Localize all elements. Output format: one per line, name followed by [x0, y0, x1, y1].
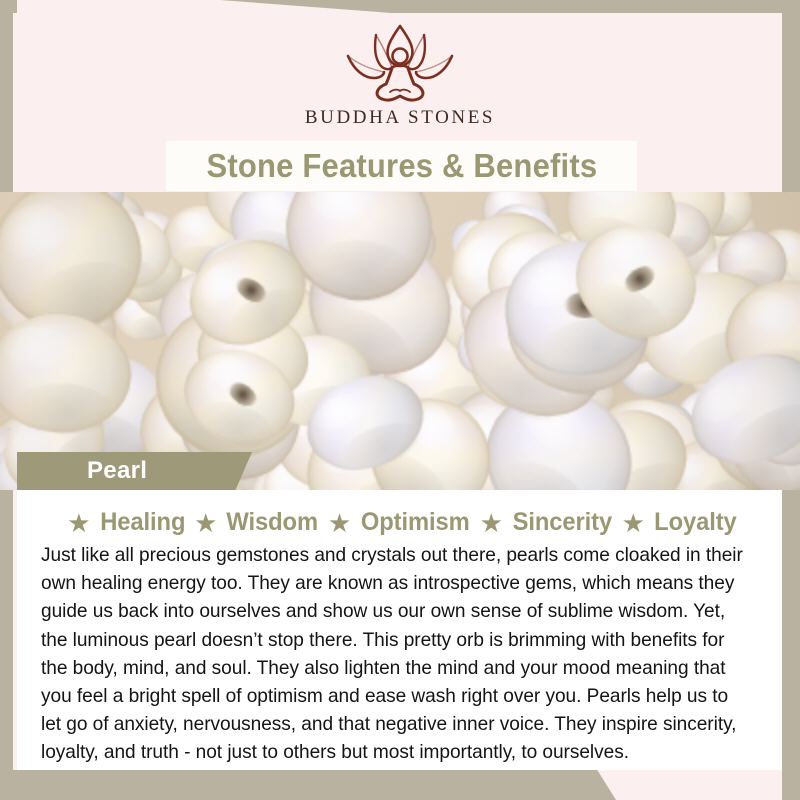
frame-accent-bottom [0, 768, 800, 800]
lotus-meditation-icon [312, 18, 488, 106]
benefits-list: ★Healing★Wisdom★Optimism★Sincerity★Loyal… [41, 508, 758, 537]
benefit-item: ★Wisdom [187, 508, 321, 537]
star-icon: ★ [480, 510, 503, 536]
star-icon: ★ [194, 510, 217, 536]
benefit-item: ★Sincerity [473, 508, 615, 537]
star-icon: ★ [622, 510, 645, 536]
stone-name-banner: Pearl [17, 452, 252, 490]
benefit-item: ★Healing [60, 508, 187, 537]
star-icon: ★ [67, 510, 90, 536]
star-icon: ★ [328, 510, 351, 536]
benefit-label: Wisdom [227, 508, 319, 537]
stone-description-card: ★Healing★Wisdom★Optimism★Sincerity★Loyal… [17, 490, 782, 770]
brand-wordmark: BUDDHA STONES [0, 107, 800, 129]
brand-logo: BUDDHA STONES [0, 18, 800, 129]
benefit-label: Sincerity [513, 508, 612, 537]
header-title-banner: Stone Features & Benefits [166, 141, 637, 191]
pearl-photo-canvas [0, 192, 800, 490]
benefit-item: ★Optimism [321, 508, 473, 537]
benefit-item: ★Loyalty [615, 508, 739, 537]
benefit-label: Healing [100, 508, 185, 537]
pearl-photo [0, 192, 800, 490]
stone-name: Pearl [87, 457, 147, 485]
page-title: Stone Features & Benefits [206, 147, 597, 185]
benefit-label: Loyalty [654, 508, 736, 537]
stone-description-text: Just like all precious gemstones and cry… [41, 541, 747, 767]
benefit-label: Optimism [361, 508, 470, 537]
stone-info-card: BUDDHA STONES Stone Features & Benefits … [0, 0, 800, 800]
